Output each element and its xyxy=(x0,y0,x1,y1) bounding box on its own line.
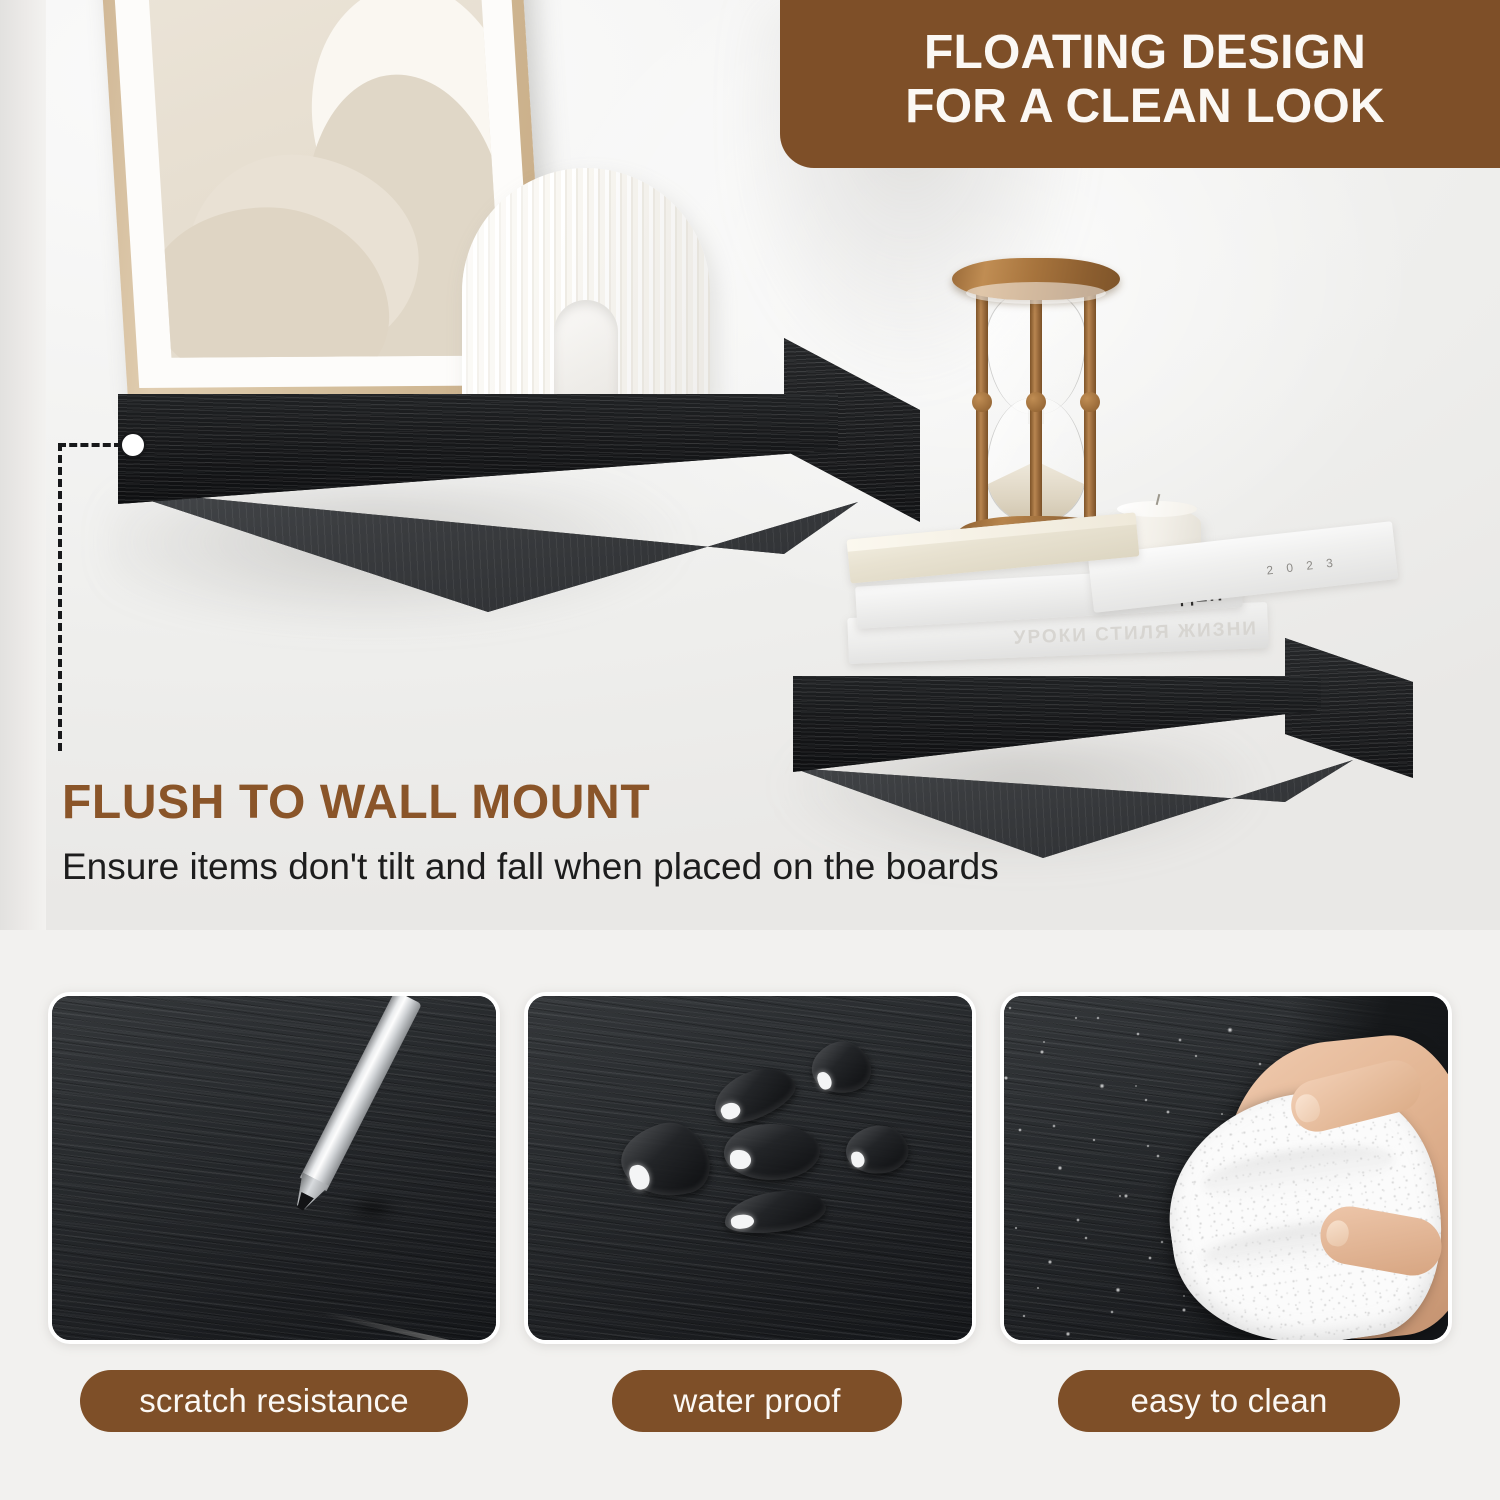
callout-anchor-dot xyxy=(120,432,146,458)
hourglass-top-cap-ring xyxy=(966,282,1106,304)
banner-line-1: FLOATING DESIGN xyxy=(924,26,1366,80)
header-banner: FLOATING DESIGN FOR A CLEAN LOOK xyxy=(780,0,1500,168)
scratch-test-photo xyxy=(48,992,500,1344)
feature-caption-pill-scratch: scratch resistance xyxy=(80,1370,468,1432)
scratch-contact-shadow xyxy=(338,1192,408,1226)
hourglass-knob-center xyxy=(1026,392,1046,412)
lower-floating-shelf xyxy=(793,638,1413,798)
headline-subtitle: Ensure items don't tilt and fall when pl… xyxy=(62,846,1402,887)
hourglass-top-cap xyxy=(952,258,1120,300)
towel-fold xyxy=(1199,1136,1398,1208)
wall-corner-shading xyxy=(0,0,46,930)
feature-caption-pill-water: water proof xyxy=(612,1370,902,1432)
water-droplet xyxy=(724,1124,820,1180)
wipe-clean-photo xyxy=(1000,992,1452,1344)
wooden-hourglass xyxy=(952,258,1120,550)
book-second-year: 2 0 2 3 xyxy=(1266,555,1339,578)
callout-vertical-dashed-line xyxy=(58,443,62,751)
banner-line-2: FOR A CLEAN LOOK xyxy=(905,80,1385,134)
feature-card-scratch-resistance: scratch resistance xyxy=(48,992,500,1344)
feature-card-easy-to-clean: easy to clean xyxy=(1000,992,1452,1344)
headline-title: FLUSH TO WALL MOUNT xyxy=(62,778,1402,828)
feature-panels-row: scratch resistance water proof xyxy=(0,992,1500,1500)
wood-surface xyxy=(52,996,496,1340)
water-beading-photo xyxy=(524,992,976,1344)
feature-caption-text: water proof xyxy=(673,1382,840,1420)
hourglass-knob-left xyxy=(972,392,992,412)
feature-caption-text: scratch resistance xyxy=(139,1382,409,1420)
callout-horizontal-dashed-line xyxy=(58,443,122,447)
feature-caption-text: easy to clean xyxy=(1130,1382,1327,1420)
poster-artwork xyxy=(144,0,504,358)
hourglass-knob-right xyxy=(1080,392,1100,412)
feature-card-water-proof: water proof xyxy=(524,992,976,1344)
feature-caption-pill-clean: easy to clean xyxy=(1058,1370,1400,1432)
upper-floating-shelf xyxy=(118,322,920,612)
headline-block: FLUSH TO WALL MOUNT Ensure items don't t… xyxy=(62,778,1402,888)
